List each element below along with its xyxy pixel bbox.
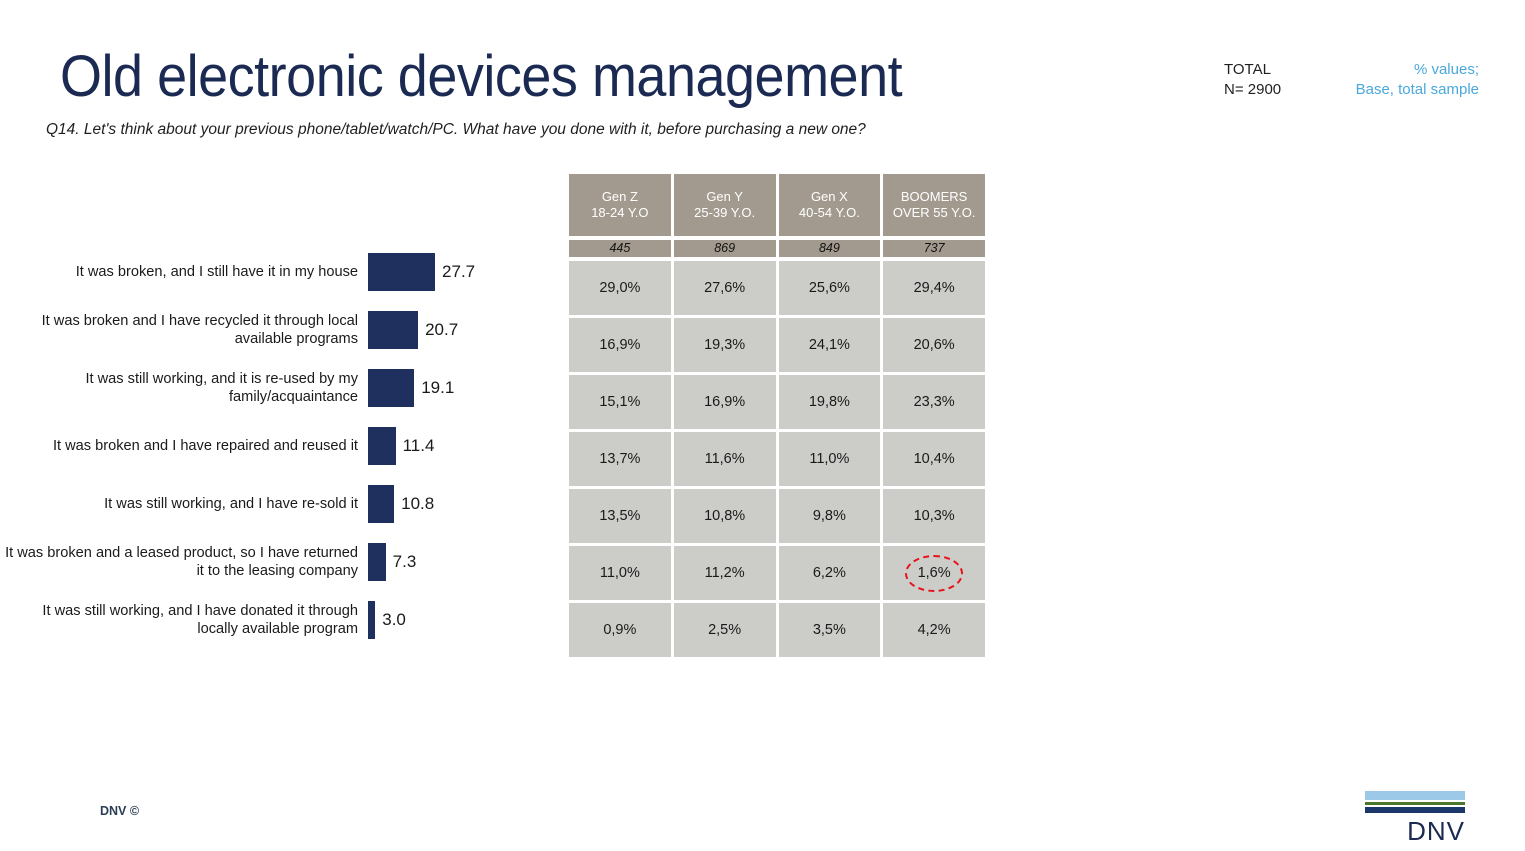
column-base-size: 869 bbox=[674, 240, 776, 257]
table-cell: 4,2% bbox=[883, 603, 985, 657]
table-cell: 2,5% bbox=[674, 603, 776, 657]
bar-value-label: 27.7 bbox=[442, 262, 475, 282]
column-age-range: 18-24 Y.O bbox=[591, 205, 648, 221]
column-base-size: 445 bbox=[569, 240, 671, 257]
bar-row: It was broken, and I still have it in my… bbox=[0, 252, 540, 292]
table-cell: 11,0% bbox=[779, 432, 881, 486]
bar-wrapper: 10.8 bbox=[368, 484, 540, 524]
table-cell-value: 20,6% bbox=[914, 337, 955, 353]
bar bbox=[368, 427, 396, 465]
generation-breakdown-table: Gen Z18-24 Y.OGen Y25-39 Y.O.Gen X40-54 … bbox=[569, 174, 985, 657]
bar-chart: It was broken, and I still have it in my… bbox=[0, 252, 540, 656]
table-cell: 11,2% bbox=[674, 546, 776, 600]
table-cell: 11,6% bbox=[674, 432, 776, 486]
table-cell: 16,9% bbox=[674, 375, 776, 429]
column-generation-name: BOOMERS bbox=[901, 189, 967, 205]
values-note-line1: % values; bbox=[1356, 60, 1479, 80]
table-column-header: Gen X40-54 Y.O. bbox=[779, 174, 881, 236]
table-cell: 29,4% bbox=[883, 261, 985, 315]
logo-bar-navy-icon bbox=[1365, 807, 1465, 813]
table-row: 13,7%11,6%11,0%10,4% bbox=[569, 432, 985, 486]
table-body: 29,0%27,6%25,6%29,4%16,9%19,3%24,1%20,6%… bbox=[569, 261, 985, 657]
bar-wrapper: 19.1 bbox=[368, 368, 540, 408]
table-cell: 23,3% bbox=[883, 375, 985, 429]
bar-value-label: 7.3 bbox=[393, 552, 417, 572]
table-cell: 11,0% bbox=[569, 546, 671, 600]
table-cell-value: 15,1% bbox=[599, 394, 640, 410]
bar-wrapper: 7.3 bbox=[368, 542, 540, 582]
table-row: 0,9%2,5%3,5%4,2% bbox=[569, 603, 985, 657]
column-age-range: 25-39 Y.O. bbox=[694, 205, 755, 221]
table-row: 16,9%19,3%24,1%20,6% bbox=[569, 318, 985, 372]
bar-value-label: 11.4 bbox=[403, 436, 435, 456]
total-base-block: TOTAL N= 2900 bbox=[1224, 60, 1281, 100]
column-base-size: 849 bbox=[779, 240, 881, 257]
table-cell-value: 27,6% bbox=[704, 280, 745, 296]
bar-value-label: 20.7 bbox=[425, 320, 458, 340]
total-n: N= 2900 bbox=[1224, 80, 1281, 100]
table-cell-value: 16,9% bbox=[599, 337, 640, 353]
bar-row: It was still working, and I have re-sold… bbox=[0, 484, 540, 524]
table-cell: 10,3% bbox=[883, 489, 985, 543]
table-cell-value: 11,0% bbox=[600, 565, 640, 581]
bar-category-label: It was still working, and I have donated… bbox=[0, 602, 358, 638]
table-cell-value: 19,3% bbox=[704, 337, 745, 353]
bar-row: It was broken and a leased product, so I… bbox=[0, 542, 540, 582]
table-cell: 10,8% bbox=[674, 489, 776, 543]
bar bbox=[368, 369, 414, 407]
table-cell-value: 4,2% bbox=[918, 622, 951, 638]
table-cell-value: 11,0% bbox=[809, 451, 849, 467]
footer-copyright: DNV © bbox=[100, 804, 139, 818]
bar-row: It was broken and I have repaired and re… bbox=[0, 426, 540, 466]
table-cell-value: 16,9% bbox=[704, 394, 745, 410]
table-cell-value: 13,5% bbox=[599, 508, 640, 524]
bar bbox=[368, 485, 394, 523]
bar-category-label: It was broken, and I still have it in my… bbox=[0, 263, 358, 281]
column-generation-name: Gen Y bbox=[706, 189, 743, 205]
bar bbox=[368, 601, 375, 639]
table-cell-value: 11,2% bbox=[705, 565, 745, 581]
column-age-range: 40-54 Y.O. bbox=[799, 205, 860, 221]
bar-row: It was still working, and it is re-used … bbox=[0, 368, 540, 408]
column-generation-name: Gen X bbox=[811, 189, 848, 205]
table-column-header: Gen Z18-24 Y.O bbox=[569, 174, 671, 236]
table-cell: 29,0% bbox=[569, 261, 671, 315]
bar bbox=[368, 543, 386, 581]
bar-category-label: It was broken and a leased product, so I… bbox=[0, 544, 358, 580]
table-cell-value: 25,6% bbox=[809, 280, 850, 296]
table-cell-value: 10,4% bbox=[914, 451, 955, 467]
bar-category-label: It was broken and I have repaired and re… bbox=[0, 437, 358, 455]
logo-bar-light-icon bbox=[1365, 791, 1465, 800]
bar-wrapper: 27.7 bbox=[368, 252, 540, 292]
table-cell: 15,1% bbox=[569, 375, 671, 429]
table-cell: 16,9% bbox=[569, 318, 671, 372]
column-generation-name: Gen Z bbox=[602, 189, 638, 205]
table-column-header: Gen Y25-39 Y.O. bbox=[674, 174, 776, 236]
bar-category-label: It was still working, and it is re-used … bbox=[0, 370, 358, 406]
table-cell-value: 29,0% bbox=[599, 280, 640, 296]
bar-wrapper: 20.7 bbox=[368, 310, 540, 350]
column-age-range: OVER 55 Y.O. bbox=[893, 205, 976, 221]
table-cell-value: 23,3% bbox=[914, 394, 955, 410]
table-row: 29,0%27,6%25,6%29,4% bbox=[569, 261, 985, 315]
table-row: 15,1%16,9%19,8%23,3% bbox=[569, 375, 985, 429]
table-cell-value: 2,5% bbox=[708, 622, 741, 638]
logo-wordmark: DNV bbox=[1365, 817, 1465, 845]
bar-category-label: It was still working, and I have re-sold… bbox=[0, 495, 358, 513]
table-cell-value: 0,9% bbox=[603, 622, 636, 638]
table-cell-value: 11,6% bbox=[705, 451, 745, 467]
table-cell-value: 6,2% bbox=[813, 565, 846, 581]
table-cell: 6,2% bbox=[779, 546, 881, 600]
table-cell: 9,8% bbox=[779, 489, 881, 543]
bar-category-label: It was broken and I have recycled it thr… bbox=[0, 312, 358, 348]
table-row: 11,0%11,2%6,2%1,6% bbox=[569, 546, 985, 600]
table-base-row: 445869849737 bbox=[569, 240, 985, 257]
table-cell-value: 10,8% bbox=[704, 508, 745, 524]
question-subtitle: Q14. Let's think about your previous pho… bbox=[46, 120, 866, 140]
table-cell-value: 3,5% bbox=[813, 622, 846, 638]
table-cell: 27,6% bbox=[674, 261, 776, 315]
bar-value-label: 3.0 bbox=[382, 610, 406, 630]
table-cell-value: 13,7% bbox=[599, 451, 640, 467]
values-note-line2: Base, total sample bbox=[1356, 80, 1479, 100]
table-cell-value: 10,3% bbox=[914, 508, 955, 524]
table-header-row: Gen Z18-24 Y.OGen Y25-39 Y.O.Gen X40-54 … bbox=[569, 174, 985, 236]
bar bbox=[368, 311, 418, 349]
bar-row: It was still working, and I have donated… bbox=[0, 600, 540, 640]
bar bbox=[368, 253, 435, 291]
bar-wrapper: 11.4 bbox=[368, 426, 540, 466]
bar-value-label: 10.8 bbox=[401, 494, 434, 514]
table-column-header: BOOMERSOVER 55 Y.O. bbox=[883, 174, 985, 236]
bar-wrapper: 3.0 bbox=[368, 600, 540, 640]
table-cell-value: 19,8% bbox=[809, 394, 850, 410]
table-cell: 19,3% bbox=[674, 318, 776, 372]
table-cell: 24,1% bbox=[779, 318, 881, 372]
bar-row: It was broken and I have recycled it thr… bbox=[0, 310, 540, 350]
column-base-size: 737 bbox=[883, 240, 985, 257]
total-label: TOTAL bbox=[1224, 60, 1281, 80]
bar-value-label: 19.1 bbox=[421, 378, 454, 398]
table-cell: 25,6% bbox=[779, 261, 881, 315]
table-cell: 0,9% bbox=[569, 603, 671, 657]
table-cell: 13,5% bbox=[569, 489, 671, 543]
logo-bar-green-icon bbox=[1365, 802, 1465, 805]
table-cell: 20,6% bbox=[883, 318, 985, 372]
table-cell: 13,7% bbox=[569, 432, 671, 486]
dnv-logo: DNV bbox=[1365, 791, 1465, 845]
table-cell-value: 1,6% bbox=[918, 565, 951, 581]
table-cell: 19,8% bbox=[779, 375, 881, 429]
table-cell: 3,5% bbox=[779, 603, 881, 657]
values-note-block: % values; Base, total sample bbox=[1356, 60, 1479, 100]
page-title: Old electronic devices management bbox=[60, 46, 902, 108]
table-cell-value: 24,1% bbox=[809, 337, 850, 353]
table-cell: 10,4% bbox=[883, 432, 985, 486]
table-cell: 1,6% bbox=[883, 546, 985, 600]
table-cell-value: 29,4% bbox=[914, 280, 955, 296]
table-cell-value: 9,8% bbox=[813, 508, 846, 524]
table-row: 13,5%10,8%9,8%10,3% bbox=[569, 489, 985, 543]
